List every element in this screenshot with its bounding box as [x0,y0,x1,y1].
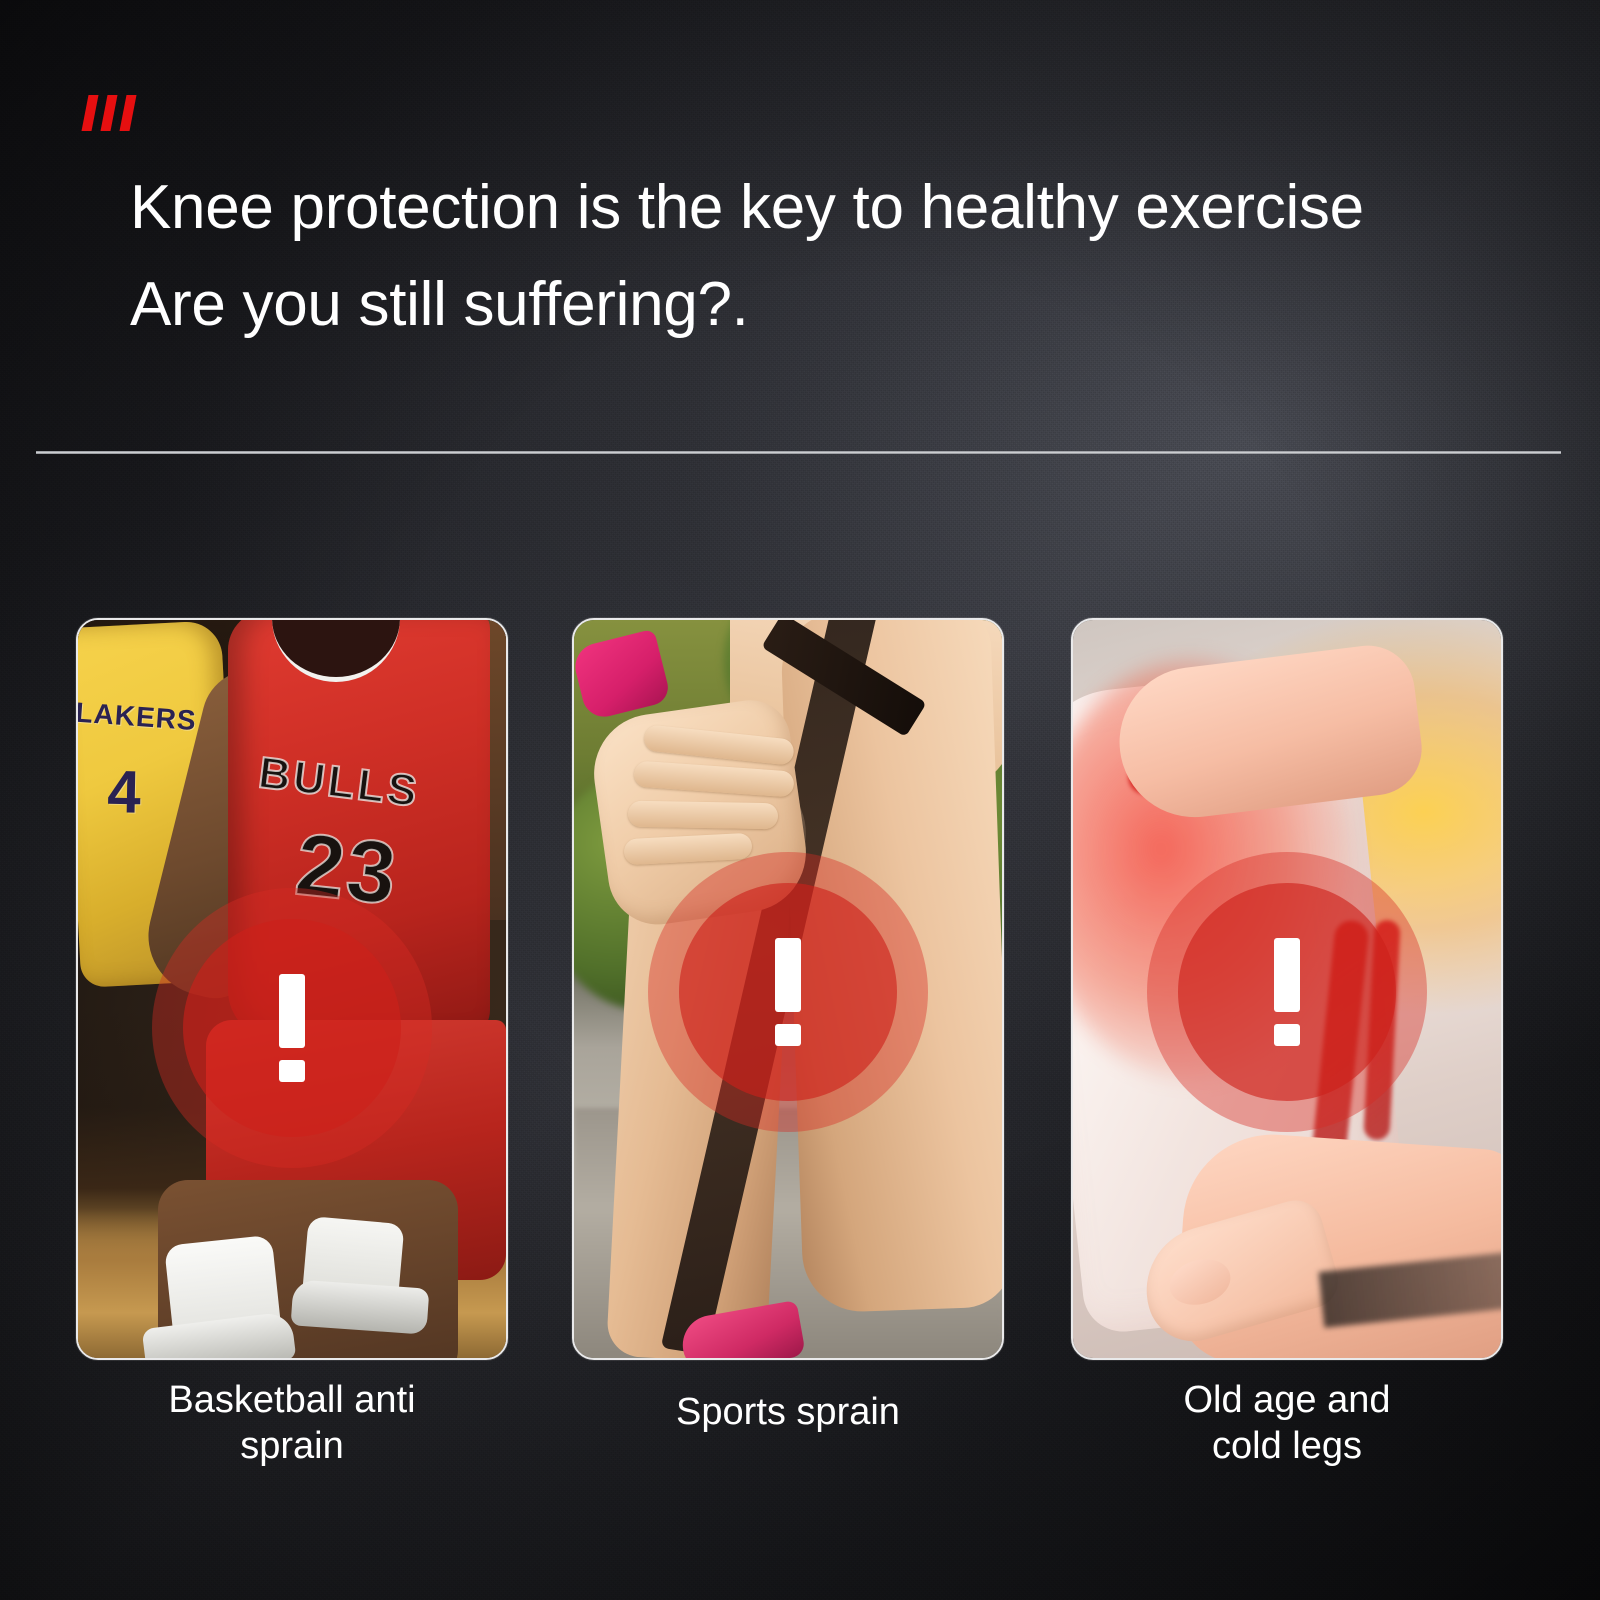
slash-bar-2 [101,95,118,131]
photo-old-age-cold-legs [1071,618,1503,1360]
exclamation-stem [1274,938,1300,1012]
exclamation-stem [279,974,305,1048]
photo-sports-sprain [572,618,1004,1360]
lakers-number: 4 [107,757,142,827]
use-case-card-sports-sprain[interactable]: Sports sprain [572,618,1004,1360]
headline-line-2: Are you still suffering?. [130,273,1570,336]
slash-bar-1 [82,95,99,131]
exclamation-glyph [775,938,801,1046]
section-divider [36,451,1561,454]
use-case-card-old-age[interactable]: Old age and cold legs [1071,618,1503,1360]
warning-inner-disc [679,883,897,1101]
exclamation-dot [279,1060,305,1082]
warning-exclamation-icon [152,888,432,1168]
exclamation-dot [1274,1024,1300,1046]
exclamation-glyph [279,974,305,1082]
exclamation-glyph [1274,938,1300,1046]
exclamation-dot [775,1024,801,1046]
jersey-neckline [272,618,400,682]
use-case-card-basketball[interactable]: LAKERS 4 BULLS 23 [76,618,508,1360]
card-caption-old-age: Old age and cold legs [1071,1378,1503,1469]
headline-line-1: Knee protection is the key to healthy ex… [130,173,1364,242]
bulls-wordmark: BULLS [256,748,490,826]
warning-inner-disc [1178,883,1396,1101]
warning-exclamation-icon [648,852,928,1132]
photo-basketball: LAKERS 4 BULLS 23 [76,618,508,1360]
page-title: Knee protection is the key to healthy ex… [130,113,1570,400]
finger-3 [628,801,778,830]
card-caption-basketball: Basketball anti sprain [76,1378,508,1469]
use-case-card-row: LAKERS 4 BULLS 23 [0,618,1600,1518]
exclamation-stem [775,938,801,1012]
player-shoe-right [291,1279,430,1334]
content-layer: Knee protection is the key to healthy ex… [0,0,1600,1600]
warning-inner-disc [183,919,401,1137]
warning-exclamation-icon [1147,852,1427,1132]
card-caption-sports-sprain: Sports sprain [572,1390,1004,1436]
